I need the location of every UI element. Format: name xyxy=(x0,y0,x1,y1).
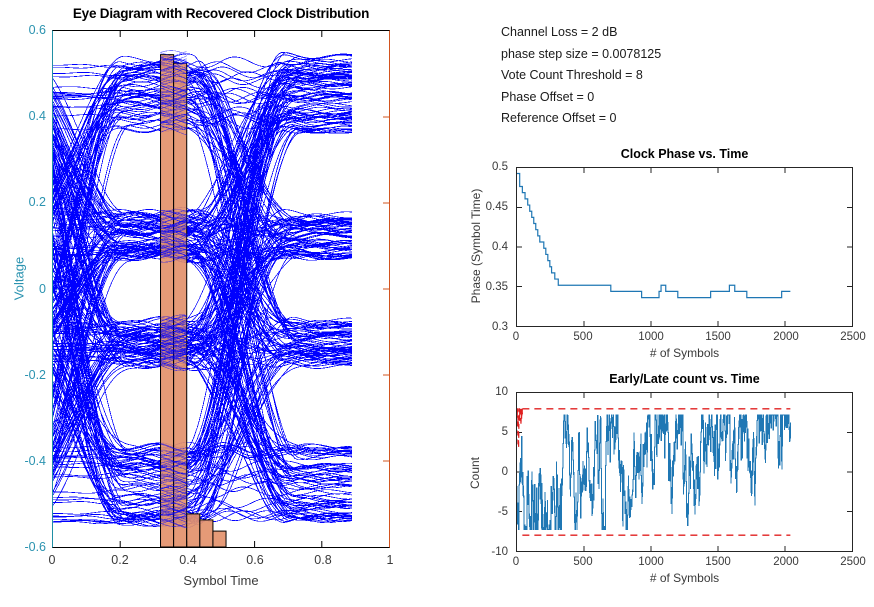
annotation-line: Vote Count Threshold = 8 xyxy=(501,65,661,87)
early-late-count-figure: Early/Late count vs. Time Count 10 5 0 -… xyxy=(450,370,874,600)
clock-phase-ytick: 0.45 xyxy=(456,201,508,213)
clock-phase-xtick: 1500 xyxy=(705,331,731,343)
clock-phase-plot-area xyxy=(516,167,853,327)
early-late-xtick: 0 xyxy=(513,556,519,568)
clock-phase-ytick: 0.3 xyxy=(456,321,508,333)
annotation-line: phase step size = 0.0078125 xyxy=(501,44,661,66)
eye-xtick-label: 1 xyxy=(387,553,394,567)
annotation-line: Reference Offset = 0 xyxy=(501,108,661,130)
eye-ytick-label: -0.4 xyxy=(0,454,46,468)
early-late-xtick: 1000 xyxy=(638,556,664,568)
eye-diagram-figure: Eye Diagram with Recovered Clock Distrib… xyxy=(0,0,440,607)
clock-phase-xtick: 2000 xyxy=(773,331,799,343)
annotation-line: Channel Loss = 2 dB xyxy=(501,22,661,44)
early-late-ytick: -5 xyxy=(456,506,508,518)
clock-phase-xtick: 500 xyxy=(573,331,592,343)
early-late-plot-area xyxy=(516,392,853,552)
clock-phase-ytick: 0.4 xyxy=(456,241,508,253)
early-late-xtick: 2000 xyxy=(773,556,799,568)
clock-phase-canvas xyxy=(517,168,852,326)
eye-xtick-label: 0 xyxy=(49,553,56,567)
early-late-ytick: 5 xyxy=(456,426,508,438)
eye-diagram-plot-area xyxy=(52,30,390,548)
eye-ytick-label: -0.6 xyxy=(0,540,46,554)
eye-ytick-label: -0.2 xyxy=(0,368,46,382)
early-late-xtick: 500 xyxy=(573,556,592,568)
annotation-line: Phase Offset = 0 xyxy=(501,87,661,109)
eye-xtick-label: 0.2 xyxy=(111,553,128,567)
eye-ytick-label: 0 xyxy=(0,282,46,296)
early-late-ytick: 10 xyxy=(456,386,508,398)
eye-xtick-label: 0.8 xyxy=(314,553,331,567)
eye-xtick-label: 0.4 xyxy=(179,553,196,567)
early-late-ytick: -10 xyxy=(456,546,508,558)
clock-phase-ytick: 0.5 xyxy=(456,161,508,173)
clock-phase-xtick: 2500 xyxy=(840,331,866,343)
early-late-ytick: 0 xyxy=(456,466,508,478)
eye-ytick-label: 0.4 xyxy=(0,109,46,123)
clock-phase-xtick: 1000 xyxy=(638,331,664,343)
eye-xtick-label: 0.6 xyxy=(246,553,263,567)
early-late-title: Early/Late count vs. Time xyxy=(516,372,853,386)
eye-diagram-title: Eye Diagram with Recovered Clock Distrib… xyxy=(52,6,390,21)
clock-phase-xlabel: # of Symbols xyxy=(516,346,853,360)
eye-ytick-label: 0.2 xyxy=(0,195,46,209)
eye-diagram-xlabel: Symbol Time xyxy=(52,573,390,588)
eye-ytick-label: 0.6 xyxy=(0,23,46,37)
clock-phase-figure: Clock Phase vs. Time Phase (Symbol Time)… xyxy=(450,145,874,360)
early-late-xtick: 2500 xyxy=(840,556,866,568)
parameter-annotations: Channel Loss = 2 dB phase step size = 0.… xyxy=(501,22,661,130)
early-late-xlabel: # of Symbols xyxy=(516,571,853,585)
clock-phase-xtick: 0 xyxy=(513,331,519,343)
early-late-xtick: 1500 xyxy=(705,556,731,568)
early-late-canvas xyxy=(517,393,852,551)
eye-diagram-ylabel: Voltage xyxy=(12,234,27,324)
eye-diagram-canvas xyxy=(53,31,389,547)
clock-phase-ytick: 0.35 xyxy=(456,281,508,293)
clock-phase-title: Clock Phase vs. Time xyxy=(516,147,853,161)
